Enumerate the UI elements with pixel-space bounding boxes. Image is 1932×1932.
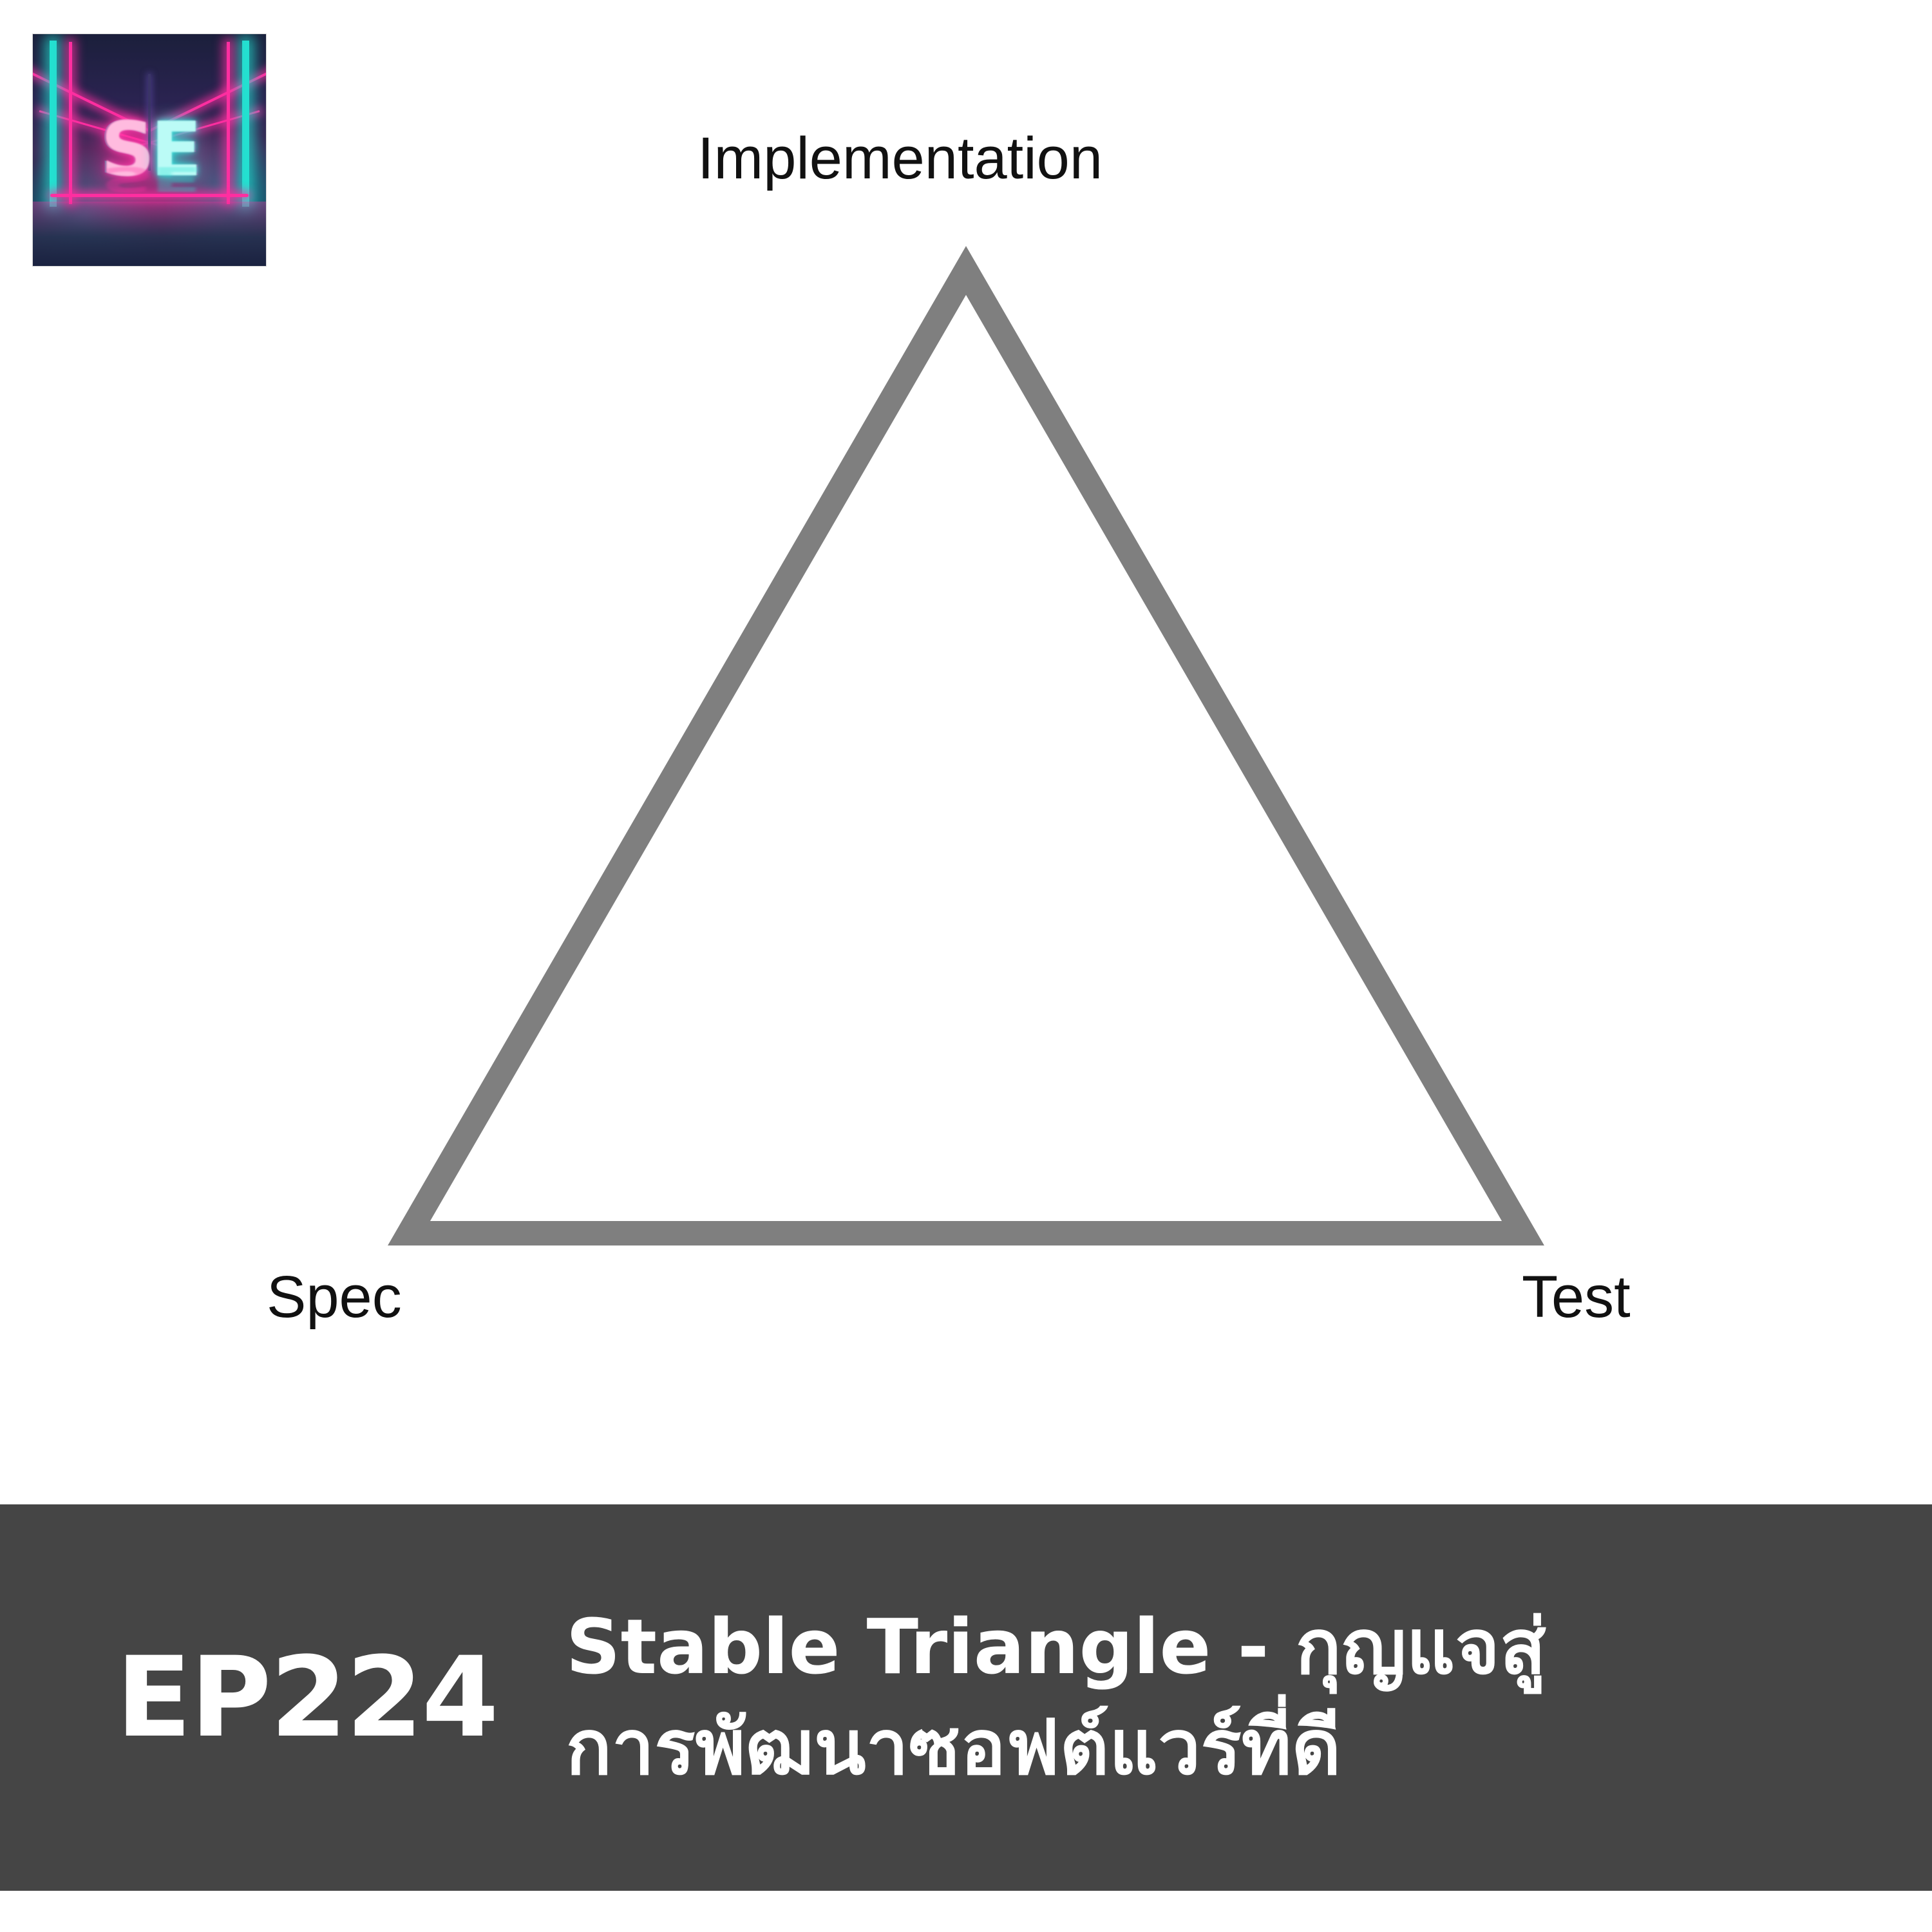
vertex-label-test: Test — [1522, 1267, 1631, 1327]
episode-banner: EP224 Stable Triangle - กุญแจสู่ การพัฒน… — [0, 1504, 1932, 1891]
vertex-label-implementation: Implementation — [697, 129, 1103, 188]
episode-title-line-1: Stable Triangle - กุญแจสู่ — [566, 1597, 1546, 1698]
triangle-outline — [409, 270, 1523, 1233]
episode-title: Stable Triangle - กุญแจสู่ การพัฒนาซอฟต์… — [566, 1597, 1546, 1798]
vertex-label-spec: Spec — [267, 1267, 402, 1327]
stable-triangle-diagram: Implementation Spec Test — [0, 0, 1932, 1504]
episode-number: EP224 — [116, 1642, 498, 1753]
episode-title-line-2: การพัฒนาซอฟต์แวร์ที่ดี — [566, 1698, 1546, 1798]
